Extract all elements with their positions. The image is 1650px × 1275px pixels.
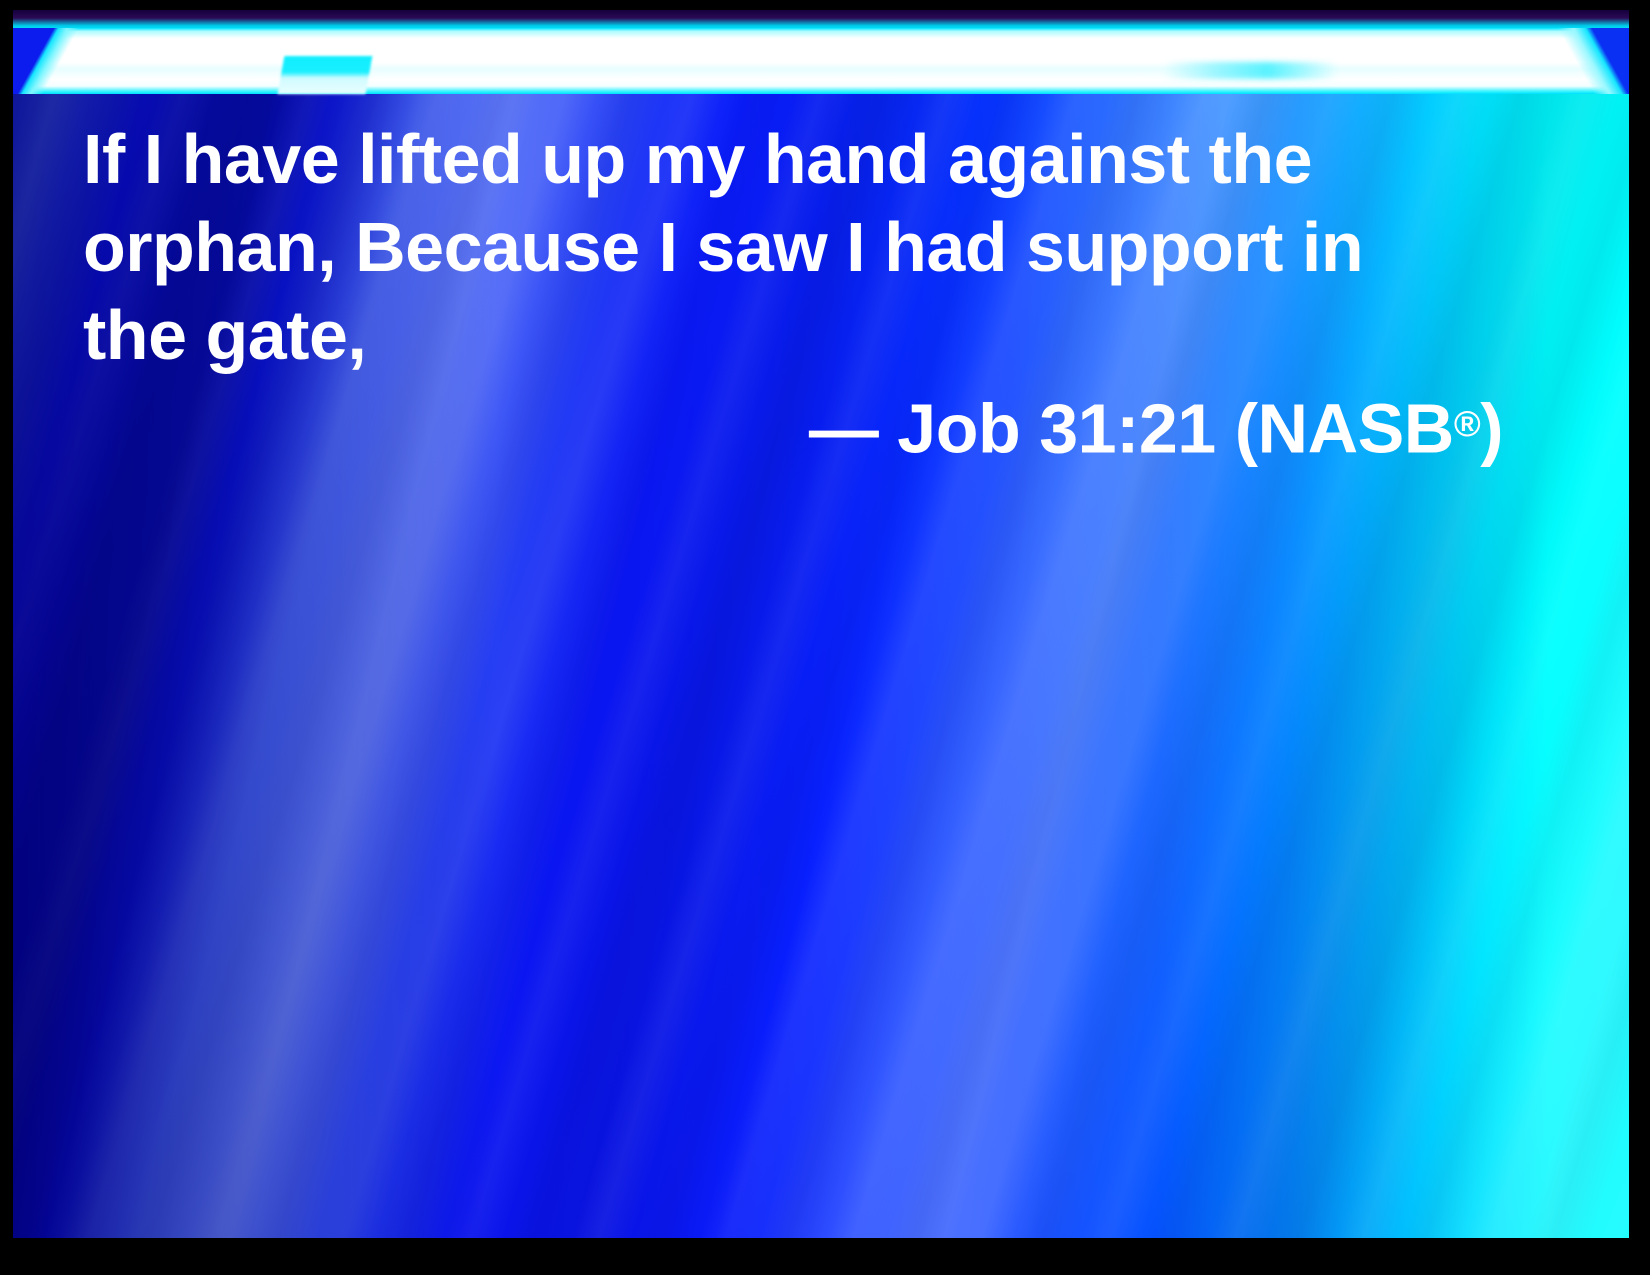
verse-text: If I have lifted up my hand against the …: [83, 115, 1483, 379]
verse-attribution: — Job 31:21 (NASB®): [83, 380, 1503, 472]
verse-slide: If I have lifted up my hand against the …: [0, 0, 1650, 1275]
slide-artwork-canvas: If I have lifted up my hand against the …: [13, 10, 1629, 1238]
attribution-spacer-3: [1216, 389, 1235, 467]
attribution-book: Job: [897, 389, 1020, 467]
attribution-translation-close: ): [1480, 389, 1503, 467]
attribution-spacer-2: [1020, 389, 1039, 467]
attribution-spacer: [878, 389, 897, 467]
registered-trademark-icon: ®: [1454, 403, 1480, 444]
attribution-dash: —: [809, 389, 879, 467]
attribution-reference: 31:21: [1039, 389, 1216, 467]
attribution-translation-open: (NASB: [1235, 389, 1454, 467]
text-layer: If I have lifted up my hand against the …: [13, 10, 1629, 1238]
